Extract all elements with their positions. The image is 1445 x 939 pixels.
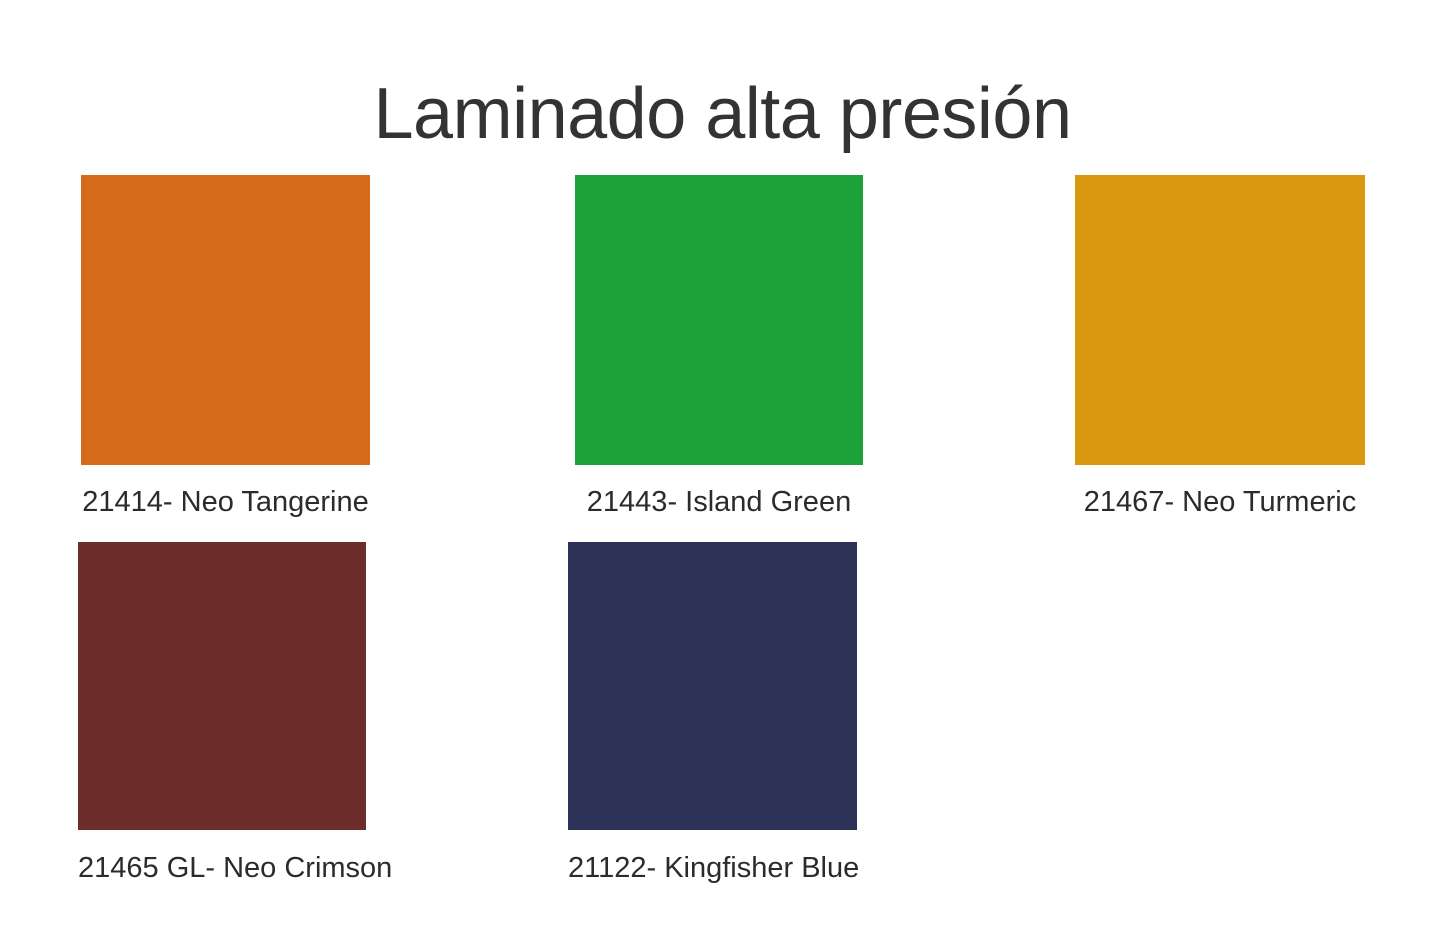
color-swatch-chip: [1075, 175, 1365, 465]
color-swatch-chip: [568, 542, 857, 830]
color-swatch-label: 21465 GL- Neo Crimson: [78, 854, 366, 883]
color-swatch-label: 21414- Neo Tangerine: [81, 488, 370, 517]
color-swatch-label: 21467- Neo Turmeric: [1075, 488, 1365, 517]
swatch-item: 21122- Kingfisher Blue: [568, 542, 857, 883]
swatch-item: 21414- Neo Tangerine: [81, 175, 370, 517]
color-swatch-chip: [78, 542, 366, 830]
color-swatch-chip: [81, 175, 370, 465]
swatch-item: 21467- Neo Turmeric: [1075, 175, 1365, 517]
color-swatch-grid: 21414- Neo Tangerine 21443- Island Green…: [0, 0, 1445, 939]
swatch-item: 21465 GL- Neo Crimson: [78, 542, 366, 883]
color-swatch-chip: [575, 175, 863, 465]
swatch-item: 21443- Island Green: [575, 175, 863, 517]
color-swatch-label: 21443- Island Green: [575, 488, 863, 517]
color-swatch-label: 21122- Kingfisher Blue: [568, 854, 857, 883]
